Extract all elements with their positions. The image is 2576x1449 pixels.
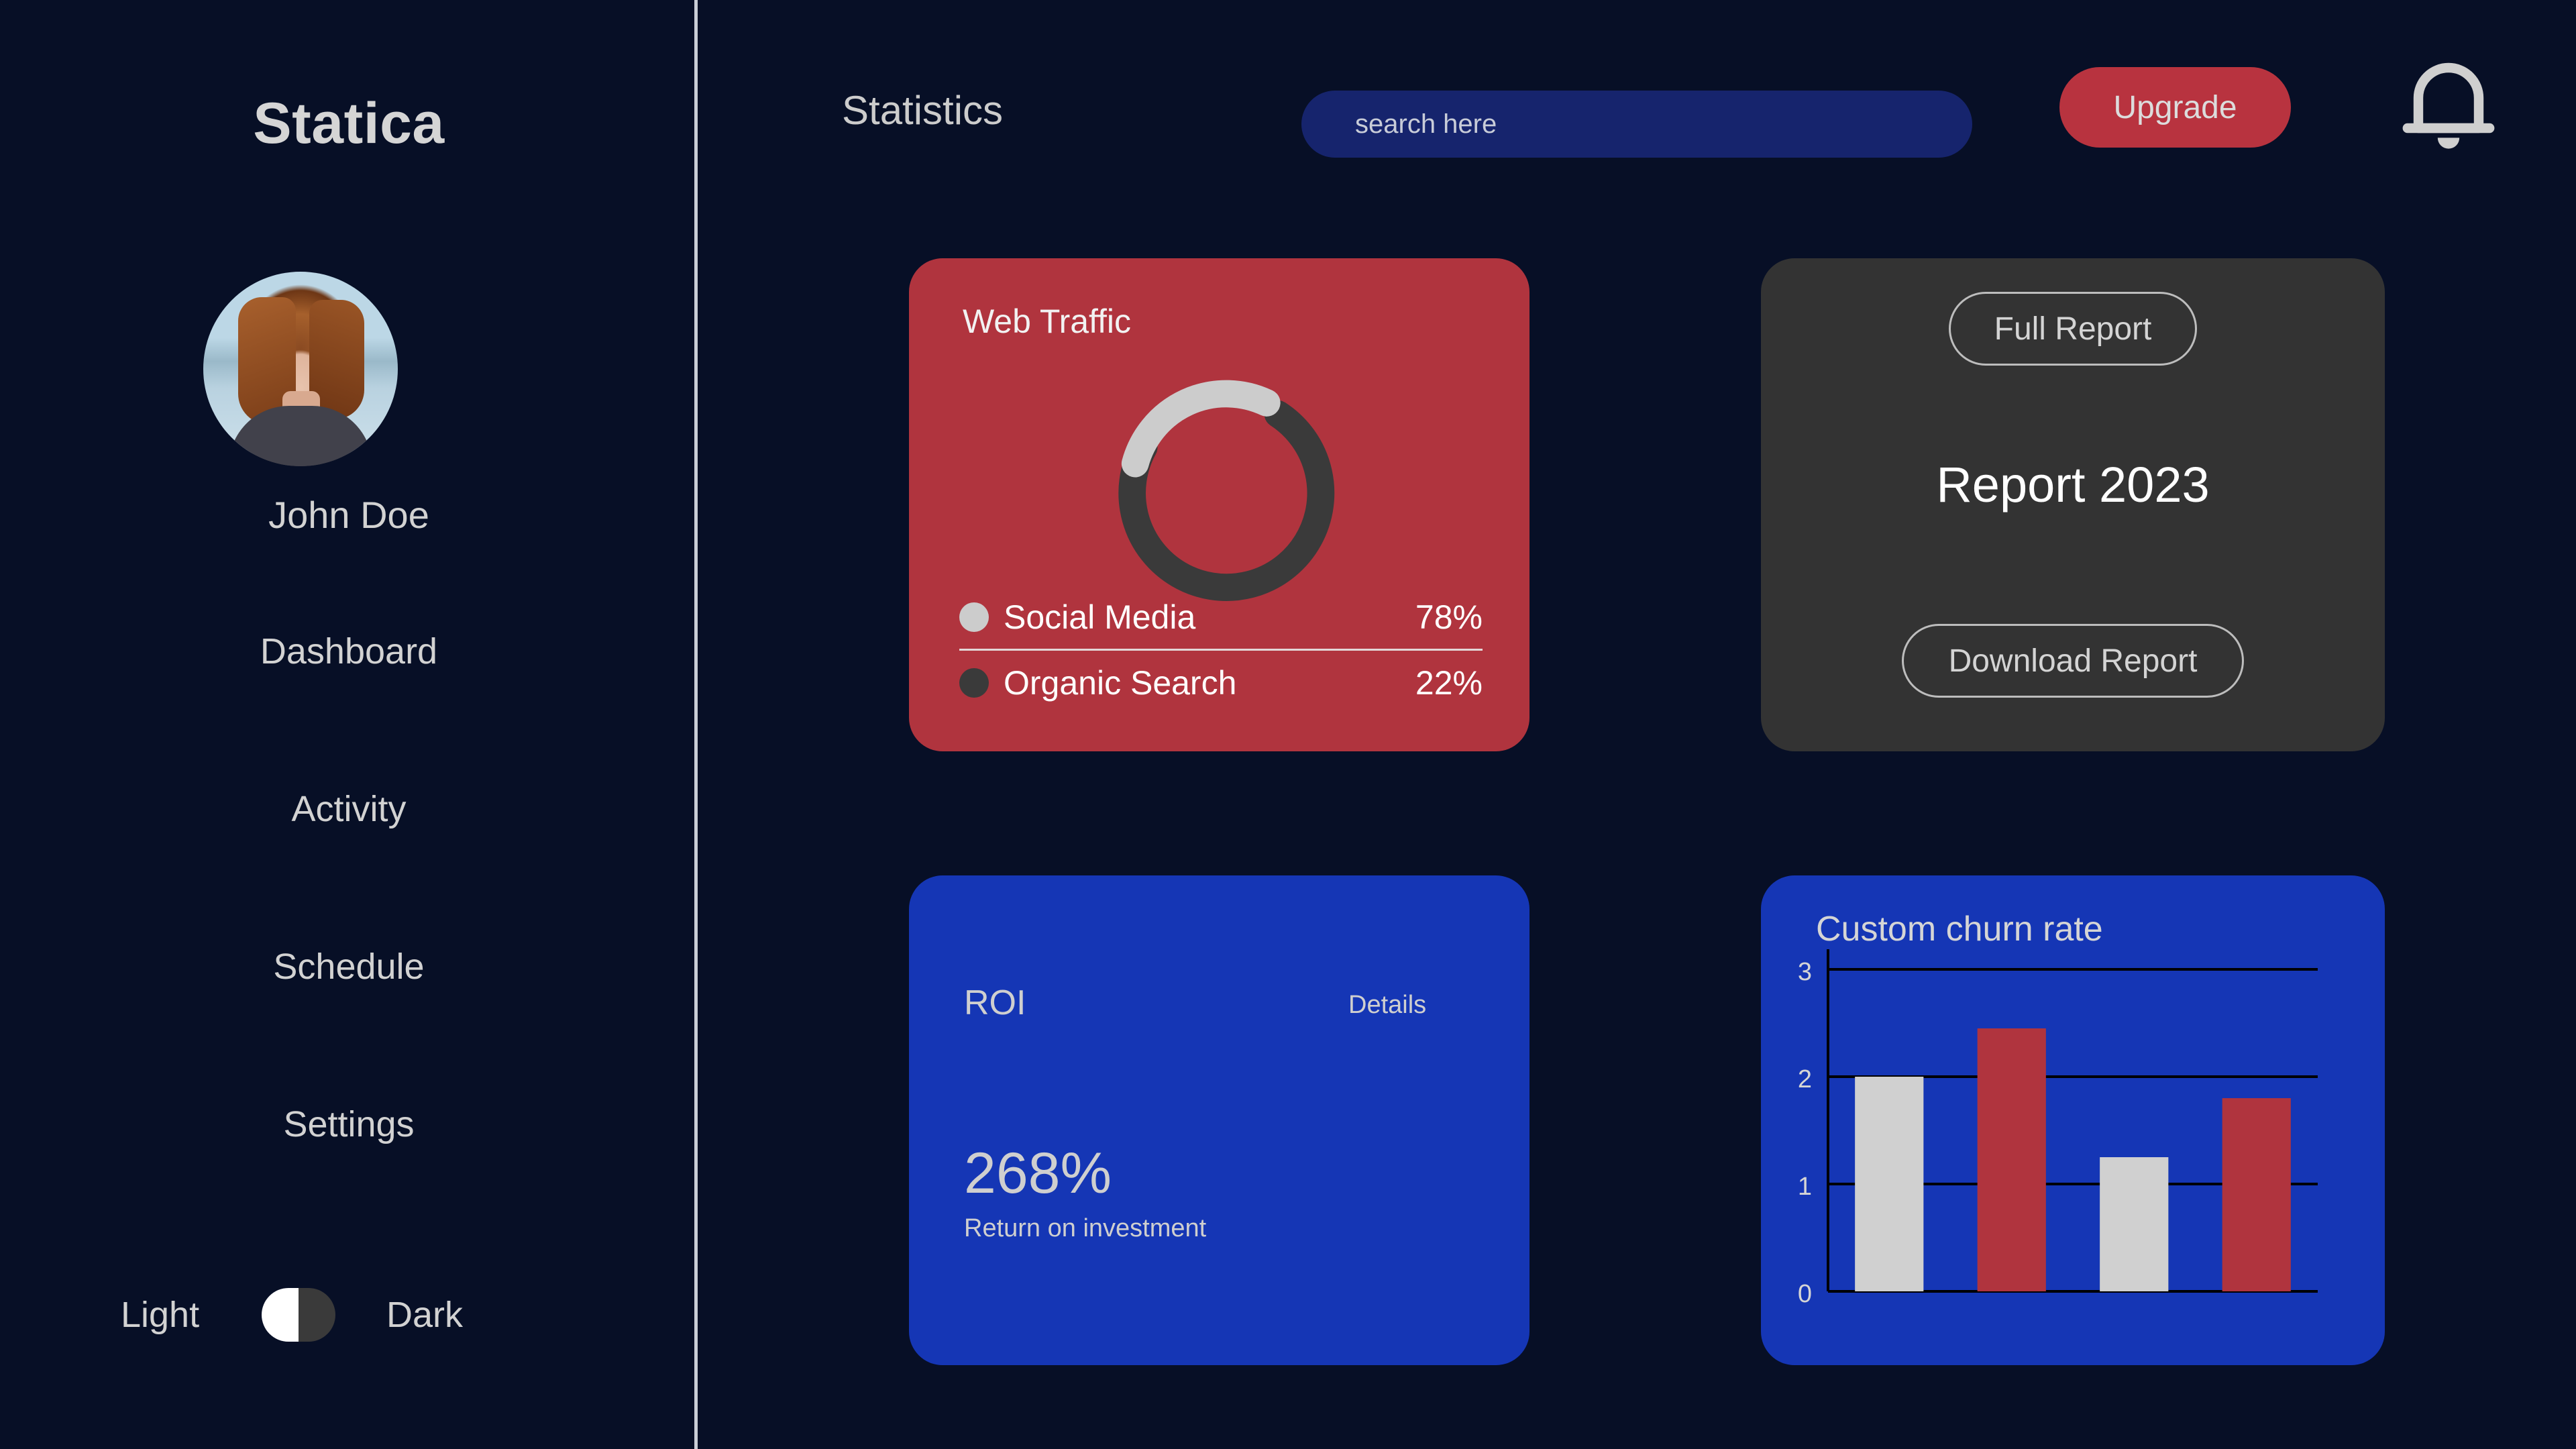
bar — [1978, 1028, 2046, 1291]
svg-text:2: 2 — [1798, 1065, 1812, 1093]
theme-dark-label: Dark — [386, 1294, 463, 1336]
svg-text:1: 1 — [1798, 1173, 1812, 1201]
bell-icon[interactable] — [2388, 44, 2509, 164]
search-box[interactable] — [1301, 91, 1972, 158]
legend-label-organic-search: Organic Search — [1004, 663, 1415, 702]
sidebar-item-dashboard[interactable]: Dashboard — [0, 631, 698, 672]
download-report-button[interactable]: Download Report — [1902, 624, 2244, 698]
legend-dot-social-media — [959, 602, 989, 632]
theme-light-label: Light — [121, 1294, 262, 1336]
bar — [1855, 1077, 1923, 1291]
sidebar-item-activity[interactable]: Activity — [0, 788, 698, 830]
bar — [2222, 1098, 2291, 1291]
theme-toggle-row: Light Dark — [121, 1281, 590, 1348]
card-report: Full Report Report 2023 Download Report — [1761, 258, 2385, 751]
full-report-button[interactable]: Full Report — [1949, 292, 2197, 366]
legend-row-social-media: Social Media 78% — [959, 585, 1483, 649]
roi-caption: Return on investment — [964, 1214, 1206, 1243]
card-title: Web Traffic — [963, 302, 1131, 341]
svg-text:3: 3 — [1798, 958, 1812, 986]
legend-label-social-media: Social Media — [1004, 598, 1415, 637]
card-web-traffic: Web Traffic Social Media 78% Organic Sea… — [909, 258, 1529, 751]
header: Statistics Upgrade — [698, 0, 2576, 201]
search-input[interactable] — [1355, 109, 1892, 140]
report-title: Report 2023 — [1761, 456, 2385, 513]
page-title: Statistics — [842, 87, 1003, 133]
sidebar-item-schedule[interactable]: Schedule — [0, 946, 698, 987]
user-name: John Doe — [0, 493, 698, 537]
sidebar-item-settings[interactable]: Settings — [0, 1104, 698, 1145]
card-churn: Custom churn rate 0123 — [1761, 875, 2385, 1365]
theme-switch-light-half — [262, 1288, 299, 1342]
roi-value: 268% — [964, 1140, 1112, 1207]
donut-chart — [1095, 366, 1344, 614]
roi-details-link[interactable]: Details — [1348, 991, 1426, 1020]
card-roi: ROI Details 268% Return on investment — [909, 875, 1529, 1365]
legend-dot-organic-search — [959, 668, 989, 698]
churn-bar-chart: 0123 — [1761, 875, 2385, 1365]
theme-switch-dark-half — [299, 1288, 335, 1342]
theme-toggle-switch[interactable] — [262, 1288, 335, 1342]
roi-title: ROI — [964, 983, 1026, 1023]
legend-row-organic-search: Organic Search 22% — [959, 651, 1483, 714]
legend: Social Media 78% Organic Search 22% — [959, 585, 1483, 714]
bar — [2100, 1157, 2168, 1291]
brand-logo: Statica — [0, 91, 698, 157]
svg-text:0: 0 — [1798, 1280, 1812, 1308]
legend-value-social-media: 78% — [1415, 598, 1483, 637]
upgrade-button[interactable]: Upgrade — [2059, 67, 2291, 148]
sidebar: Statica John Doe Dashboard Activity Sche… — [0, 0, 698, 1449]
legend-value-organic-search: 22% — [1415, 663, 1483, 702]
avatar — [203, 272, 398, 466]
